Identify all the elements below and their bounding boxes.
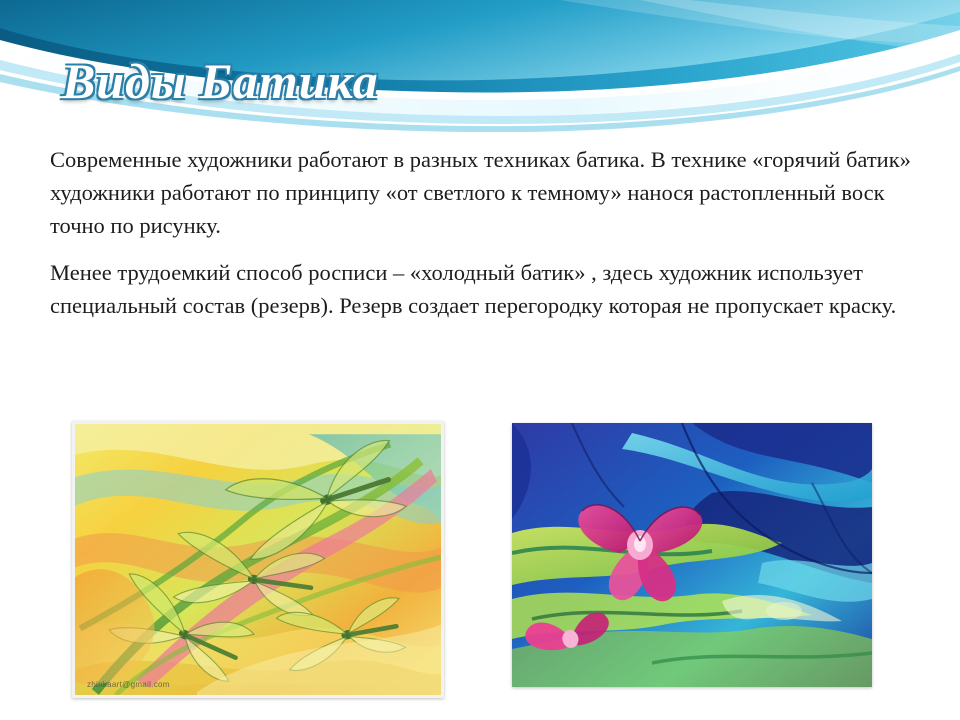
body-text: Современные художники работают в разных … xyxy=(50,143,916,336)
image-batik-orchid xyxy=(512,423,872,687)
image-watermark: zhinkaart@gmail.com xyxy=(87,680,170,689)
slide: Виды Батика Современные художники работа… xyxy=(0,0,960,720)
image-batik-dragonflies: zhinkaart@gmail.com xyxy=(72,421,444,698)
paragraph-2: Менее трудоемкий способ росписи – «холод… xyxy=(50,256,916,322)
page-title: Виды Батика xyxy=(62,52,379,110)
paragraph-1: Современные художники работают в разных … xyxy=(50,143,916,242)
